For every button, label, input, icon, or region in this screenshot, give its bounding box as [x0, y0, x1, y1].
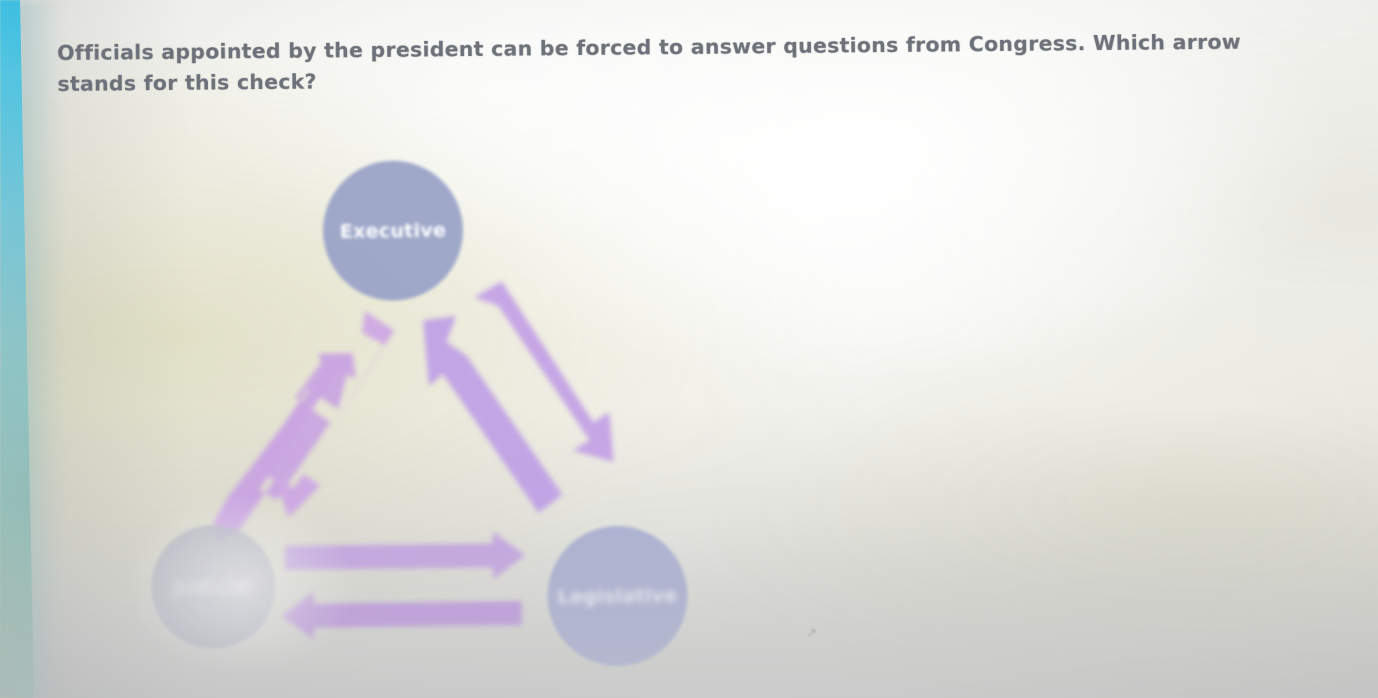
checks-and-balances-diagram: Executive Judicial Legislative — [120, 142, 747, 698]
node-legislative-label: Legislative — [557, 585, 677, 608]
node-executive-label: Executive — [340, 220, 447, 243]
arrow-legislative-to-judicial[interactable] — [281, 589, 522, 640]
question-text: Officials appointed by the president can… — [57, 26, 1278, 100]
node-executive[interactable]: Executive — [322, 160, 464, 302]
arrow-judicial-to-legislative[interactable] — [285, 531, 526, 582]
node-legislative[interactable]: Legislative — [547, 525, 689, 667]
node-judicial-label: Judicial — [171, 576, 253, 599]
stray-mark: ↗ — [806, 628, 816, 640]
arrow-judicial-to-executive[interactable] — [212, 353, 358, 543]
node-judicial[interactable]: Judicial — [151, 524, 277, 650]
screen-photo: Officials appointed by the president can… — [0, 0, 1378, 698]
